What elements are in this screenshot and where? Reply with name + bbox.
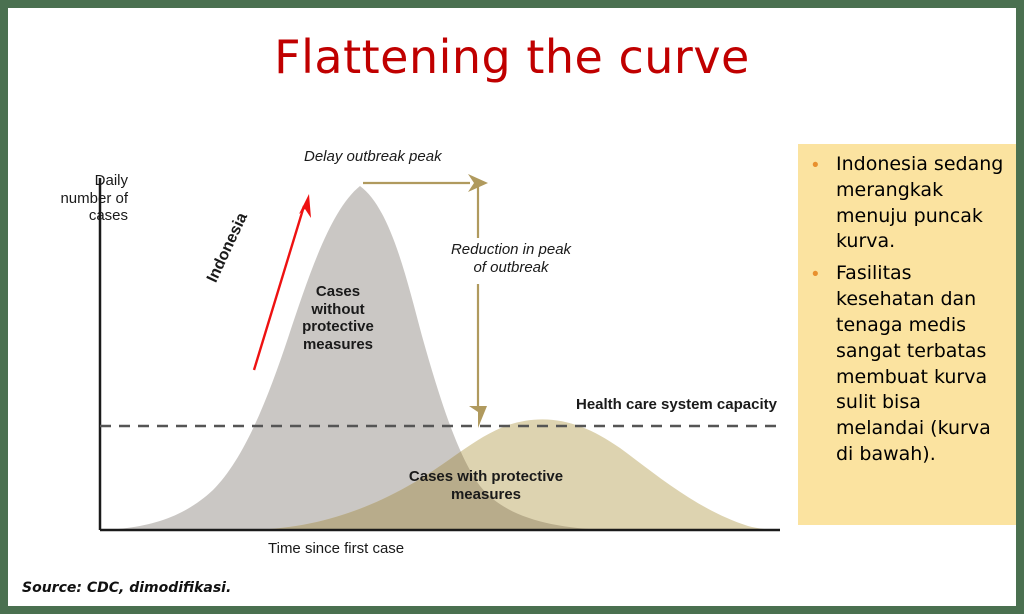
- reduction-label-line1: Reduction in peak: [451, 241, 571, 258]
- source-caption: Source: CDC, dimodifikasi.: [22, 580, 231, 596]
- bullet-icon: •: [806, 261, 836, 289]
- delay-outbreak-peak-label: Delay outbreak peak: [304, 148, 442, 166]
- flattening-curve-chart: Daily number of cases Time since first c…: [8, 138, 783, 568]
- x-axis-label: Time since first case: [268, 540, 404, 558]
- list-item-text: Fasilitas kesehatan dan tenaga medis san…: [836, 261, 1014, 468]
- page-title: Flattening the curve: [8, 30, 1016, 84]
- cases-without-line2: without: [311, 301, 364, 318]
- cases-without-measures-label: Cases without protective measures: [278, 283, 398, 354]
- y-axis-label-line3: cases: [89, 207, 128, 224]
- reduction-arrow-head: [469, 406, 487, 428]
- cases-without-line3: protective: [302, 318, 374, 335]
- notes-panel: • Indonesia sedang merangkak menuju punc…: [798, 144, 1024, 525]
- cases-with-measures-label: Cases with protective measures: [386, 468, 586, 503]
- y-axis-label: Daily number of cases: [38, 172, 128, 225]
- cases-without-line1: Cases: [316, 283, 360, 300]
- list-item: • Indonesia sedang merangkak menuju punc…: [806, 152, 1014, 255]
- y-axis-label-line2: number of: [60, 190, 128, 207]
- healthcare-capacity-label: Health care system capacity: [576, 396, 777, 414]
- cases-with-line1: Cases with protective: [409, 468, 563, 485]
- reduction-label-line2: of outbreak: [473, 259, 548, 276]
- y-axis-label-line1: Daily: [95, 172, 128, 189]
- reduction-in-peak-label: Reduction in peak of outbreak: [426, 241, 596, 276]
- slide-canvas: Flattening the curve: [0, 0, 1024, 614]
- bullet-icon: •: [806, 152, 836, 180]
- list-item: • Fasilitas kesehatan dan tenaga medis s…: [806, 261, 1014, 468]
- cases-without-line4: measures: [303, 336, 373, 353]
- list-item-text: Indonesia sedang merangkak menuju puncak…: [836, 152, 1014, 255]
- cases-with-line2: measures: [451, 486, 521, 503]
